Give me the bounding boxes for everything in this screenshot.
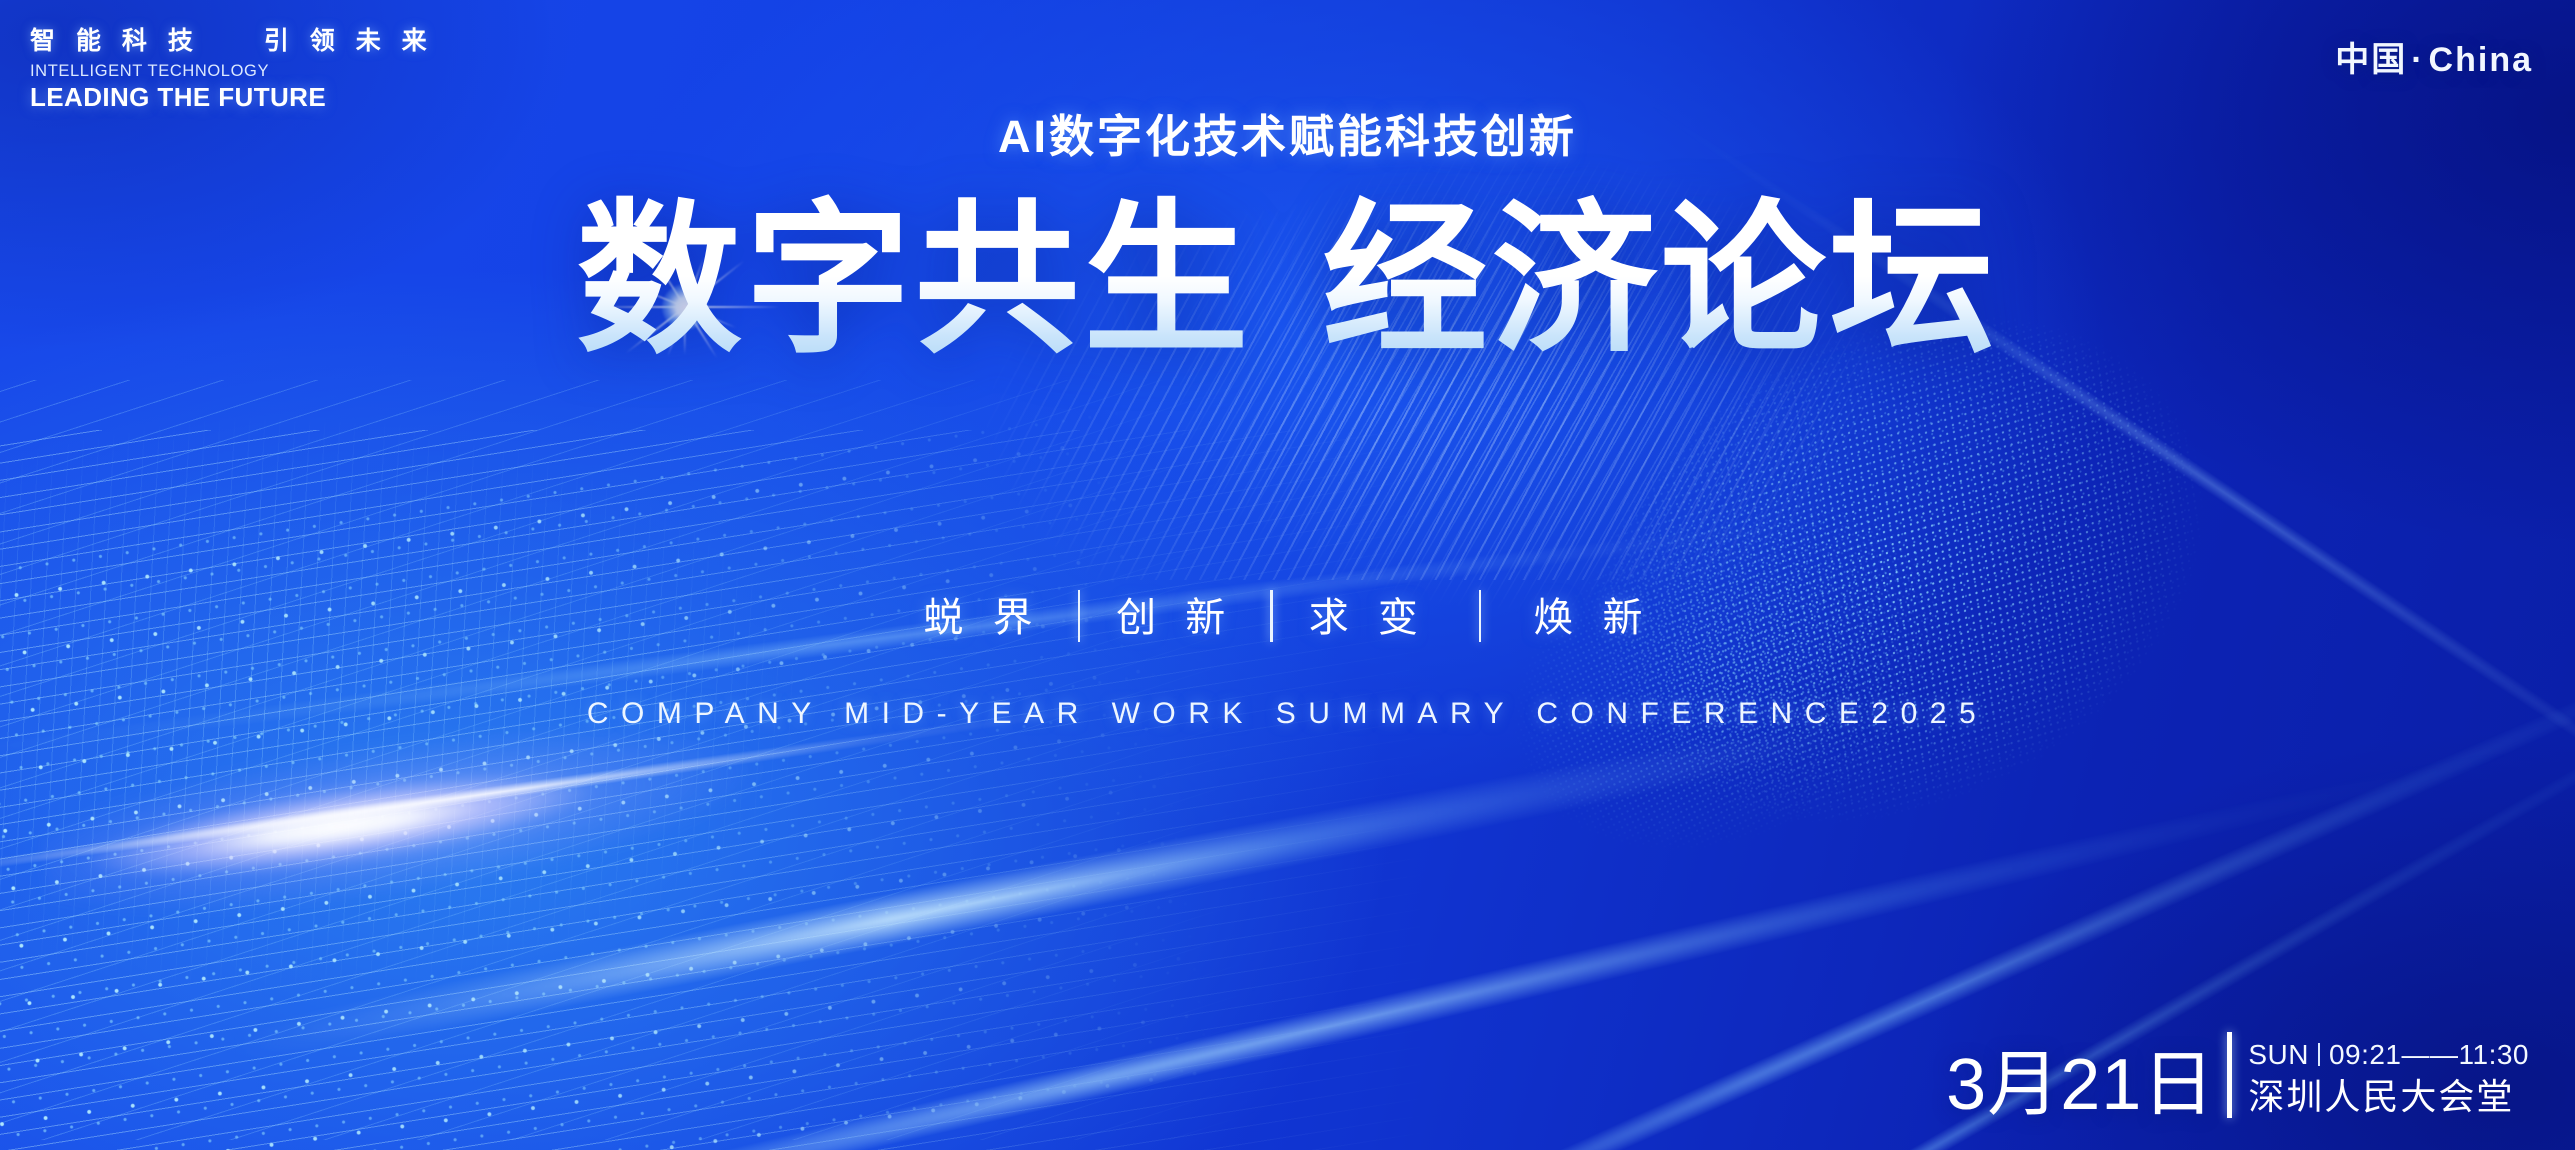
region-label-cn: 中国 [2335,41,2407,79]
keyword-separator [1270,590,1273,642]
page-title-part-2: 经济论坛 [1323,188,1999,372]
page-title-part-1: 数字共生 [577,188,1253,372]
event-time-row: SUN 09:21——11:30 [2248,1037,2529,1072]
keyword-item: 焕 新 [1533,585,1651,643]
conference-banner: 智 能 科 技 引 领 未 来 INTELLIGENT TECHNOLOGY L… [0,0,2575,1150]
region-separator: · [2411,41,2424,79]
event-details: 3月21日 SUN 09:21——11:30 深圳人民大会堂 [1946,1032,2529,1122]
keyword-separator [1078,590,1081,642]
keyword-separator [1479,590,1482,642]
brand-slogan-en-primary: INTELLIGENT TECHNOLOGY [30,59,434,84]
event-time-range: 09:21——11:30 [2329,1037,2529,1072]
event-subtitle-top: AI数字化技术赋能科技创新 [0,100,2575,165]
event-details-right: SUN 09:21——11:30 深圳人民大会堂 [2248,1037,2529,1122]
region-label-en: China [2429,41,2533,79]
keyword-list: 蜕 界创 新求 变焕 新 [0,585,2575,643]
event-details-divider [2227,1032,2232,1118]
keyword-item: 求 变 [1309,585,1427,643]
event-date: 3月21日 [1946,1049,2215,1122]
keyword-item: 蜕 界 [924,585,1042,643]
event-weekday: SUN [2248,1037,2309,1072]
brand-slogan: 智 能 科 技 引 领 未 来 INTELLIGENT TECHNOLOGY L… [30,26,434,112]
event-time-divider [2318,1043,2320,1066]
banner-content: 智 能 科 技 引 领 未 来 INTELLIGENT TECHNOLOGY L… [0,0,2575,1150]
page-title: 数字共生经济论坛 [0,180,2575,381]
brand-slogan-cn: 智 能 科 技 引 领 未 来 [30,26,434,57]
region-label: 中国·China [2335,32,2533,81]
event-subtitle-en: COMPANY MID-YEAR WORK SUMMARY CONFERENCE… [0,697,2575,731]
keyword-item: 创 新 [1116,585,1234,643]
event-venue: 深圳人民大会堂 [2248,1075,2529,1118]
